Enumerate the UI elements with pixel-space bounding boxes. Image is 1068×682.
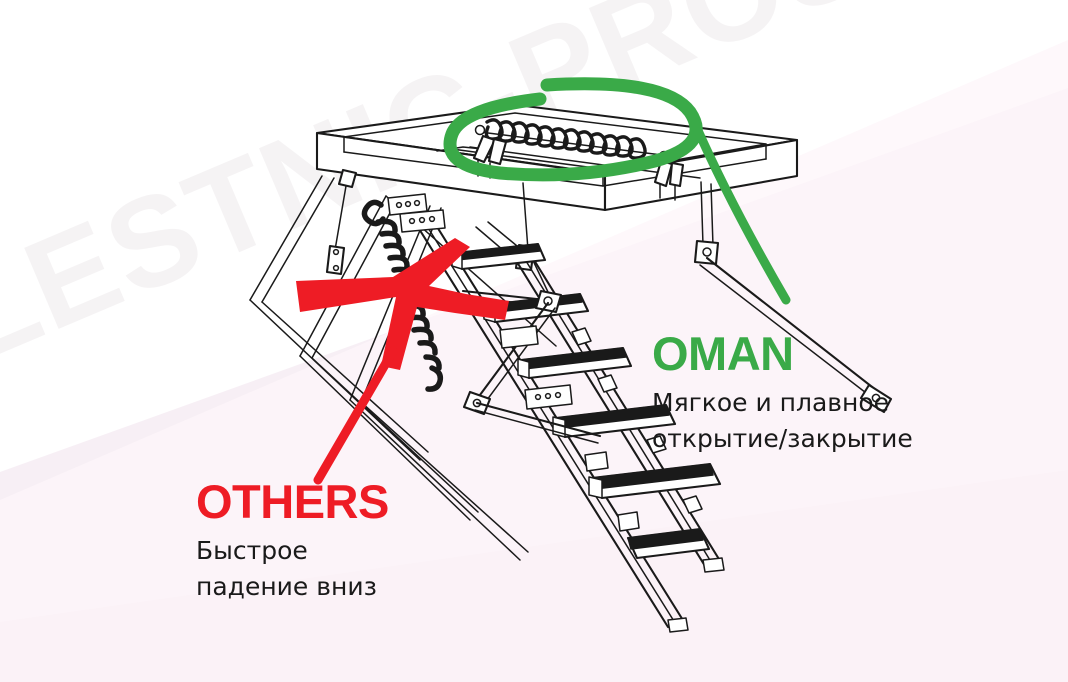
hinge-bracket xyxy=(618,512,639,531)
others-description-line1: Быстрое xyxy=(196,533,389,569)
oman-description-line1: Мягкое и плавное xyxy=(652,385,913,421)
hinge-bracket xyxy=(585,452,608,471)
others-description-line2: падение вниз xyxy=(196,569,389,605)
infographic-canvas: LESTNIC-PROSTO.RU .ln { fill:none; strok… xyxy=(0,0,1068,682)
oman-description-line2: открытие/закрытие xyxy=(652,421,913,457)
hinge-bracket xyxy=(500,326,538,348)
hinge-bracket xyxy=(525,385,572,409)
others-title: OTHERS xyxy=(196,478,389,525)
ladder-tread xyxy=(592,464,720,498)
oman-title: OMAN xyxy=(652,330,913,377)
others-annotation-block: OTHERS Быстрое падение вниз xyxy=(196,478,389,606)
ladder-tread xyxy=(521,348,631,378)
oman-annotation-block: OMAN Мягкое и плавное открытие/закрытие xyxy=(652,330,913,458)
